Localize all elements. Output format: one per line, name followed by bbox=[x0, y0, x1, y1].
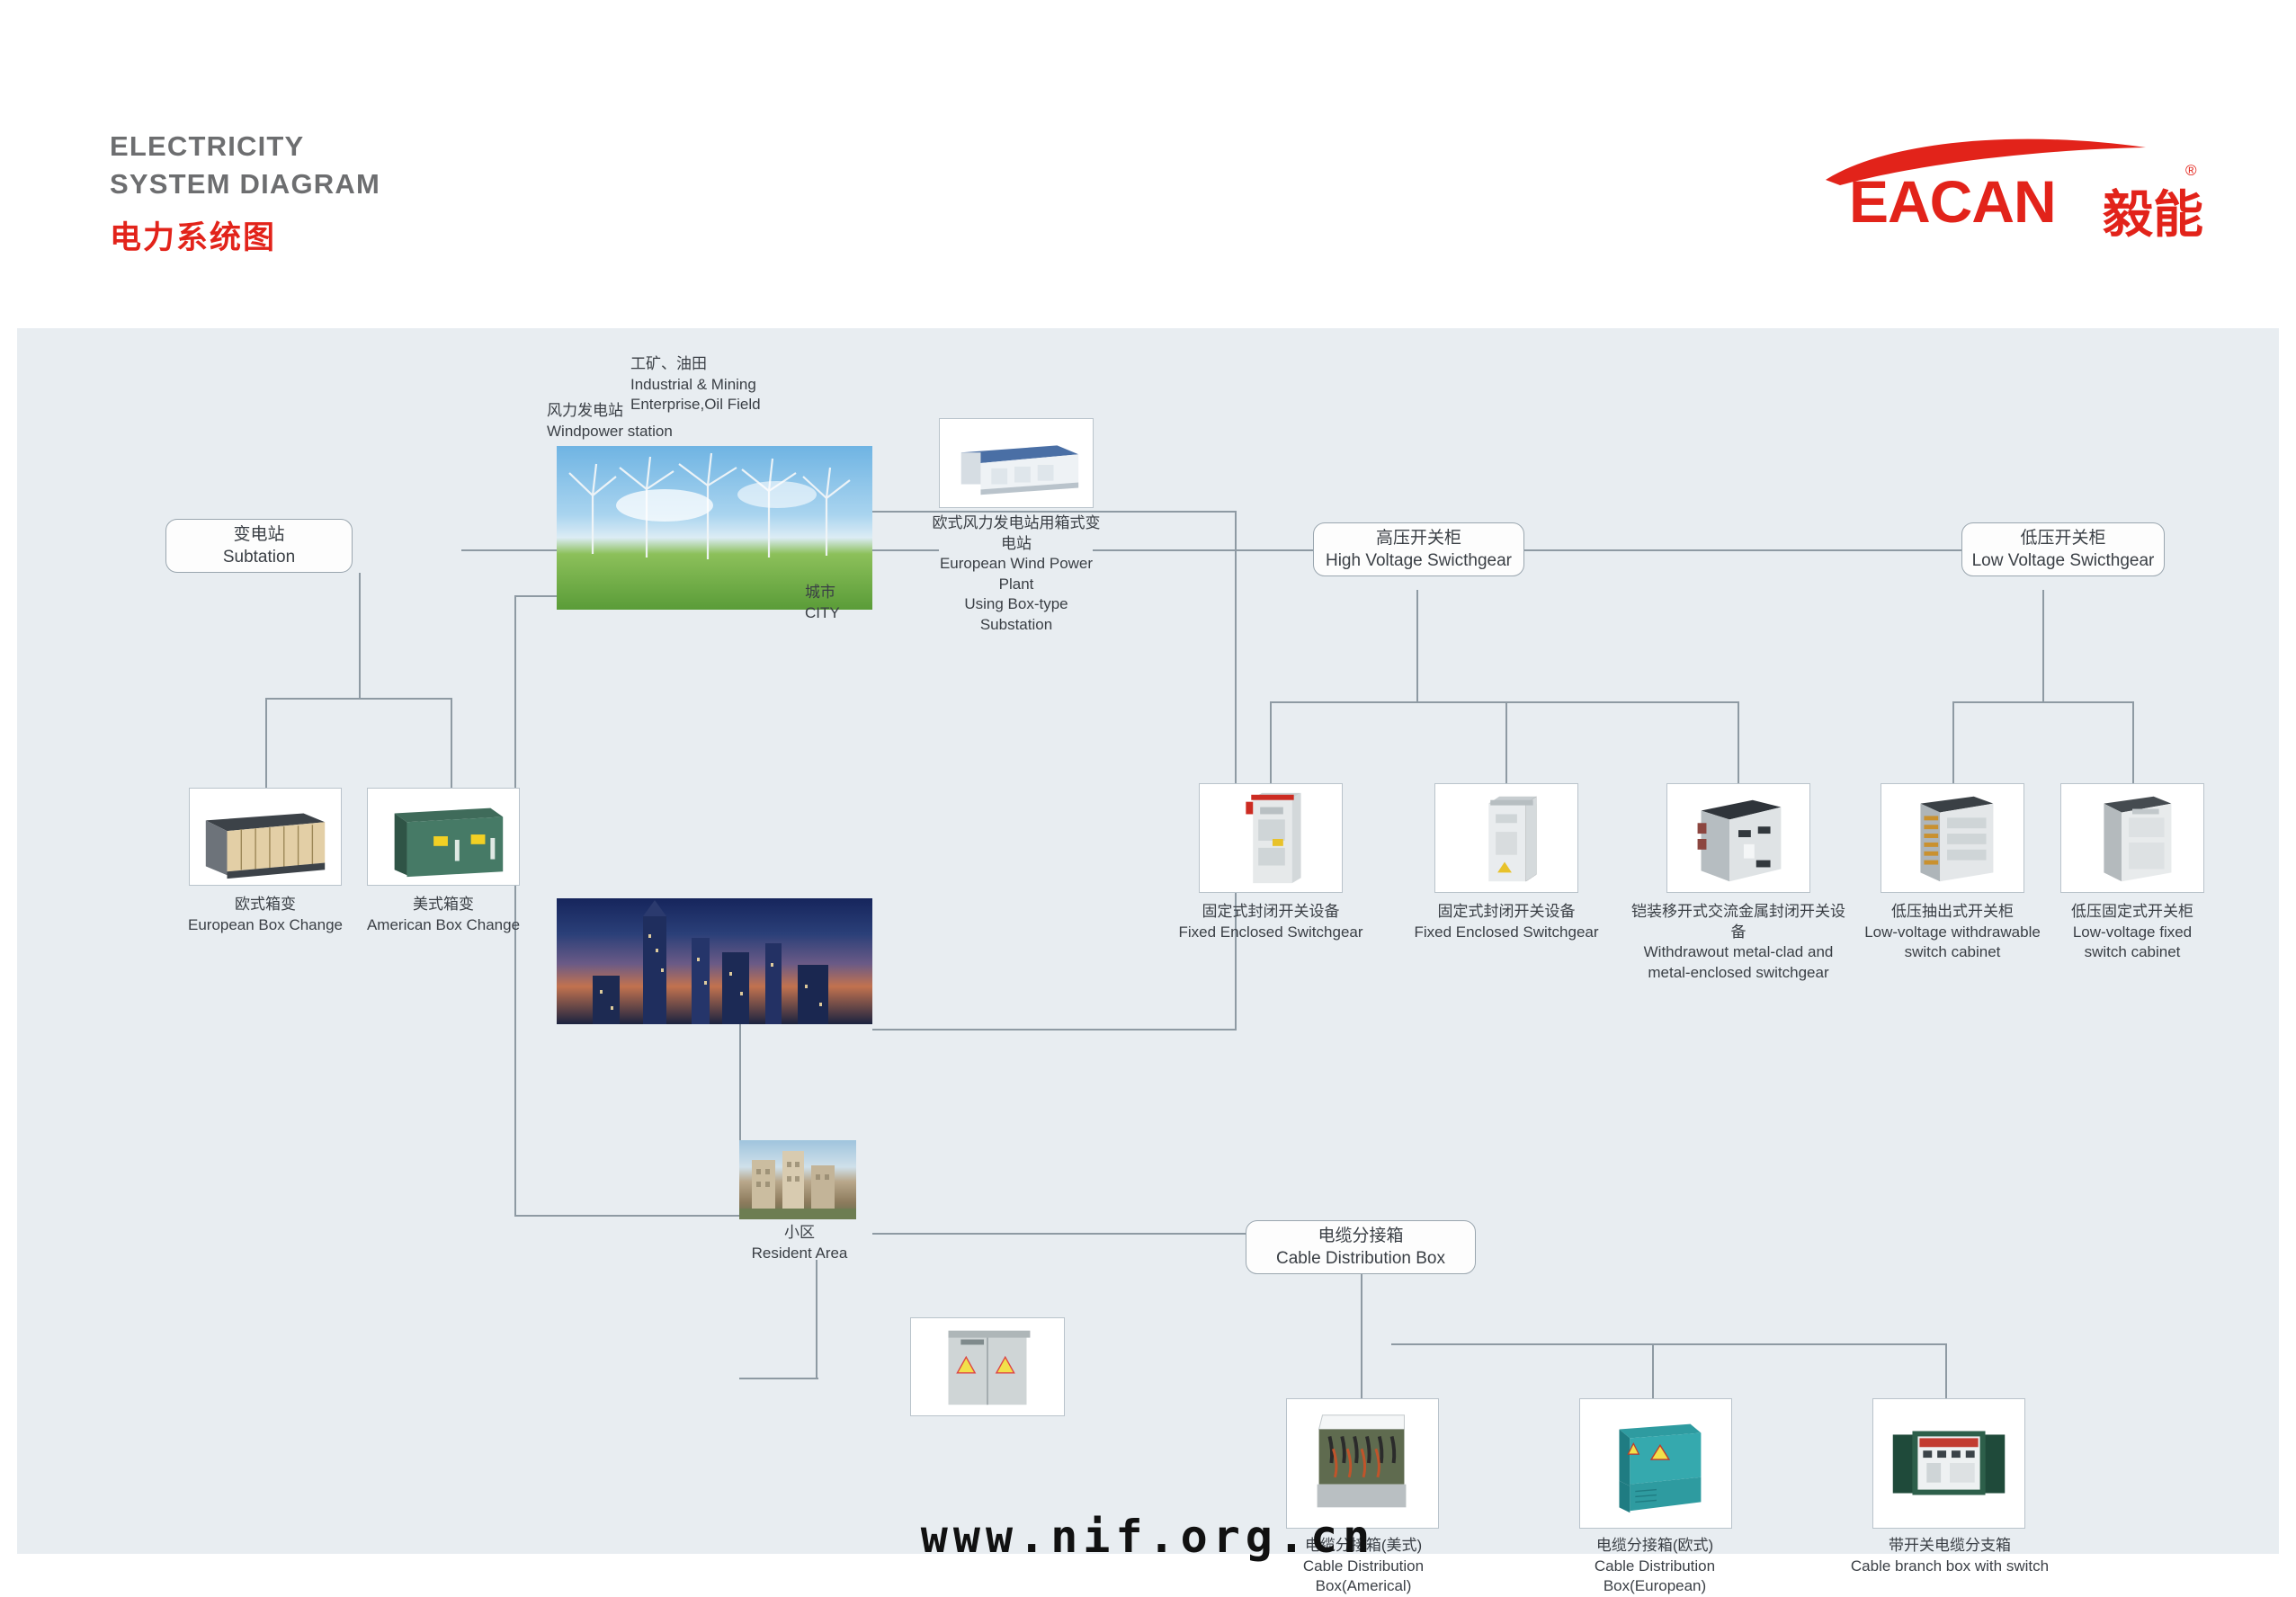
fixed-enclosed-switchgear-2-icon bbox=[1435, 784, 1577, 892]
node-high-voltage-switchgear[interactable]: 高压开关柜 High Voltage Swicthgear bbox=[1313, 522, 1524, 576]
caption-windpower-cn: 风力发电站 bbox=[547, 401, 817, 422]
caption-european-box-cn: 欧式箱变 bbox=[184, 895, 346, 915]
caption-european-box-en: European Box Change bbox=[184, 915, 346, 936]
node-high-voltage-cn: 高压开关柜 bbox=[1376, 527, 1461, 549]
connector-to-american-box bbox=[451, 698, 452, 788]
caption-hv-item-3: 铠装移开式交流金属封闭开关设备 Withdrawout metal-clad a… bbox=[1625, 902, 1852, 983]
withdrawable-metal-clad-switchgear-icon bbox=[1667, 784, 1809, 892]
node-low-voltage-cn: 低压开关柜 bbox=[2020, 527, 2105, 549]
connector-hv-child-1 bbox=[1270, 701, 1272, 784]
connector-hv-to-lv bbox=[1524, 549, 1961, 551]
photo-hv-item-2[interactable] bbox=[1434, 783, 1578, 893]
node-cable-distribution-box[interactable]: 电缆分接箱 Cable Distribution Box bbox=[1246, 1220, 1476, 1274]
node-substation[interactable]: 变电站 Subtation bbox=[165, 519, 353, 573]
caption-resident-cn: 小区 bbox=[728, 1223, 871, 1244]
node-substation-cn: 变电站 bbox=[233, 523, 284, 546]
connector-hv-child-2 bbox=[1505, 701, 1507, 784]
photo-city[interactable] bbox=[557, 898, 872, 1024]
logo-wordmark-chinese: 毅能 bbox=[2103, 174, 2203, 247]
caption-lv-item-2-en-2: switch cabinet bbox=[2037, 942, 2228, 963]
caption-city: 城市 CITY bbox=[805, 583, 985, 623]
connector-cable-child-3 bbox=[1945, 1343, 1947, 1399]
caption-windpower: 风力发电站 Windpower station bbox=[547, 401, 817, 442]
cable-distribution-box-american-icon bbox=[1287, 1399, 1438, 1528]
caption-american-box: 美式箱变 American Box Change bbox=[362, 895, 524, 935]
connector-lv-child-1 bbox=[1952, 701, 1954, 784]
node-high-voltage-en: High Voltage Swicthgear bbox=[1326, 549, 1512, 572]
connector-cable-child-2 bbox=[1652, 1343, 1654, 1399]
node-low-voltage-en: Low Voltage Swicthgear bbox=[1972, 549, 2155, 572]
street-cabinet-icon bbox=[911, 1318, 1064, 1415]
connector-boxsub-to-hv bbox=[1093, 549, 1313, 551]
caption-hv-item-3-cn: 铠装移开式交流金属封闭开关设备 bbox=[1625, 902, 1852, 942]
caption-city-cn: 城市 bbox=[805, 583, 985, 603]
caption-resident-area: 小区 Resident Area bbox=[728, 1223, 871, 1263]
caption-industrial-en-1: Industrial & Mining bbox=[630, 375, 918, 396]
caption-hv-item-2: 固定式封闭开关设备 Fixed Enclosed Switchgear bbox=[1411, 902, 1602, 942]
caption-lv-item-1-en-1: Low-voltage withdrawable bbox=[1857, 923, 2048, 943]
caption-lv-item-2-cn: 低压固定式开关柜 bbox=[2037, 902, 2228, 923]
diagram-page: ELECTRICITY SYSTEM DIAGRAM 电力系统图 EACAN 毅… bbox=[0, 0, 2296, 1578]
connector-cable-down bbox=[1361, 1274, 1362, 1344]
caption-windpower-en: Windpower station bbox=[547, 422, 817, 442]
connector-resident-cabinet bbox=[739, 1378, 818, 1379]
residential-buildings-icon bbox=[739, 1140, 856, 1219]
connector-hv-bus bbox=[1270, 701, 1739, 703]
american-box-change-icon bbox=[368, 789, 519, 885]
photo-hv-item-1[interactable] bbox=[1199, 783, 1343, 893]
caption-american-box-cn: 美式箱变 bbox=[362, 895, 524, 915]
page-title-chinese: 电力系统图 bbox=[110, 212, 276, 258]
photo-box-substation[interactable] bbox=[939, 418, 1094, 508]
low-voltage-withdrawable-cabinet-icon bbox=[1881, 784, 2024, 892]
connector-to-european-box bbox=[265, 698, 267, 788]
site-watermark: www.nif.org.cn bbox=[0, 1511, 2296, 1563]
logo-wordmark: EACAN bbox=[1849, 167, 2056, 236]
photo-street-cabinet[interactable] bbox=[910, 1317, 1065, 1416]
registered-trademark-icon: ® bbox=[2185, 162, 2197, 180]
caption-lv-item-2-en-1: Low-voltage fixed bbox=[2037, 923, 2228, 943]
title-line-1: ELECTRICITY bbox=[110, 128, 739, 165]
photo-lv-item-2[interactable] bbox=[2060, 783, 2204, 893]
photo-american-box-change[interactable] bbox=[367, 788, 520, 886]
connector-industrial-right bbox=[872, 511, 1237, 513]
connector-wind-bottom bbox=[514, 1215, 739, 1217]
node-low-voltage-switchgear[interactable]: 低压开关柜 Low Voltage Swicthgear bbox=[1961, 522, 2165, 576]
photo-cable-item-3[interactable] bbox=[1872, 1398, 2025, 1529]
caption-hv-item-3-en-2: metal-enclosed switchgear bbox=[1625, 963, 1852, 984]
connector-cable-child-1 bbox=[1361, 1343, 1362, 1399]
caption-resident-en: Resident Area bbox=[728, 1244, 871, 1264]
low-voltage-fixed-cabinet-icon bbox=[2061, 784, 2203, 892]
photo-lv-item-1[interactable] bbox=[1881, 783, 2024, 893]
caption-hv-item-2-en-1: Fixed Enclosed Switchgear bbox=[1411, 923, 1602, 943]
caption-hv-item-1-cn: 固定式封闭开关设备 bbox=[1175, 902, 1366, 923]
connector-substation-bus bbox=[265, 698, 452, 700]
caption-lv-item-1: 低压抽出式开关柜 Low-voltage withdrawable switch… bbox=[1857, 902, 2048, 963]
connector-substation-down bbox=[359, 573, 361, 699]
caption-box-substation-cn: 欧式风力发电站用箱式变电站 bbox=[926, 513, 1106, 554]
caption-american-box-en: American Box Change bbox=[362, 915, 524, 936]
caption-hv-item-3-en-1: Withdrawout metal-clad and bbox=[1625, 942, 1852, 963]
caption-lv-item-1-en-2: switch cabinet bbox=[1857, 942, 2048, 963]
eacan-logo: EACAN 毅能 ® bbox=[1826, 135, 2203, 241]
cable-branch-box-with-switch-icon bbox=[1873, 1399, 2024, 1528]
photo-european-box-change[interactable] bbox=[189, 788, 342, 886]
connector-resident-to-cable bbox=[872, 1233, 1246, 1235]
caption-european-box: 欧式箱变 European Box Change bbox=[184, 895, 346, 935]
page-header: ELECTRICITY SYSTEM DIAGRAM 电力系统图 EACAN 毅… bbox=[0, 0, 2296, 322]
connector-cable-bus bbox=[1391, 1343, 1947, 1345]
caption-industrial-cn: 工矿、油田 bbox=[630, 354, 918, 375]
connector-industrial-down bbox=[1235, 511, 1237, 1029]
european-box-change-icon bbox=[190, 789, 341, 885]
node-substation-en: Subtation bbox=[223, 546, 295, 568]
photo-cable-item-1[interactable] bbox=[1286, 1398, 1439, 1529]
connector-industrial-to-hv bbox=[872, 1029, 1237, 1030]
caption-lv-item-1-cn: 低压抽出式开关柜 bbox=[1857, 902, 2048, 923]
connector-lv-bus bbox=[1952, 701, 2134, 703]
caption-hv-item-1: 固定式封闭开关设备 Fixed Enclosed Switchgear bbox=[1175, 902, 1366, 942]
cable-distribution-box-european-icon bbox=[1580, 1399, 1731, 1528]
caption-lv-item-2: 低压固定式开关柜 Low-voltage fixed switch cabine… bbox=[2037, 902, 2228, 963]
caption-city-en: CITY bbox=[805, 603, 985, 624]
connector-hv-child-3 bbox=[1738, 701, 1739, 784]
caption-hv-item-2-cn: 固定式封闭开关设备 bbox=[1411, 902, 1602, 923]
connector-lv-child-2 bbox=[2132, 701, 2134, 784]
node-cable-distribution-cn: 电缆分接箱 bbox=[1318, 1225, 1403, 1247]
connector-lv-down bbox=[2042, 590, 2044, 702]
connector-hv-down bbox=[1416, 590, 1418, 702]
photo-cable-item-2[interactable] bbox=[1579, 1398, 1732, 1529]
diagram-canvas: 工矿、油田 Industrial & Mining Enterprise,Oil… bbox=[17, 328, 2279, 1554]
title-line-2: SYSTEM DIAGRAM bbox=[110, 165, 739, 203]
photo-hv-item-3[interactable] bbox=[1666, 783, 1810, 893]
node-cable-distribution-en: Cable Distribution Box bbox=[1276, 1247, 1445, 1270]
box-substation-icon bbox=[940, 419, 1093, 507]
page-title: ELECTRICITY SYSTEM DIAGRAM bbox=[110, 128, 739, 203]
city-skyline-icon bbox=[557, 898, 872, 1024]
photo-resident-area[interactable] bbox=[739, 1140, 856, 1219]
connector-resident-down bbox=[816, 1260, 817, 1378]
fixed-enclosed-switchgear-icon bbox=[1200, 784, 1342, 892]
caption-hv-item-1-en-1: Fixed Enclosed Switchgear bbox=[1175, 923, 1366, 943]
